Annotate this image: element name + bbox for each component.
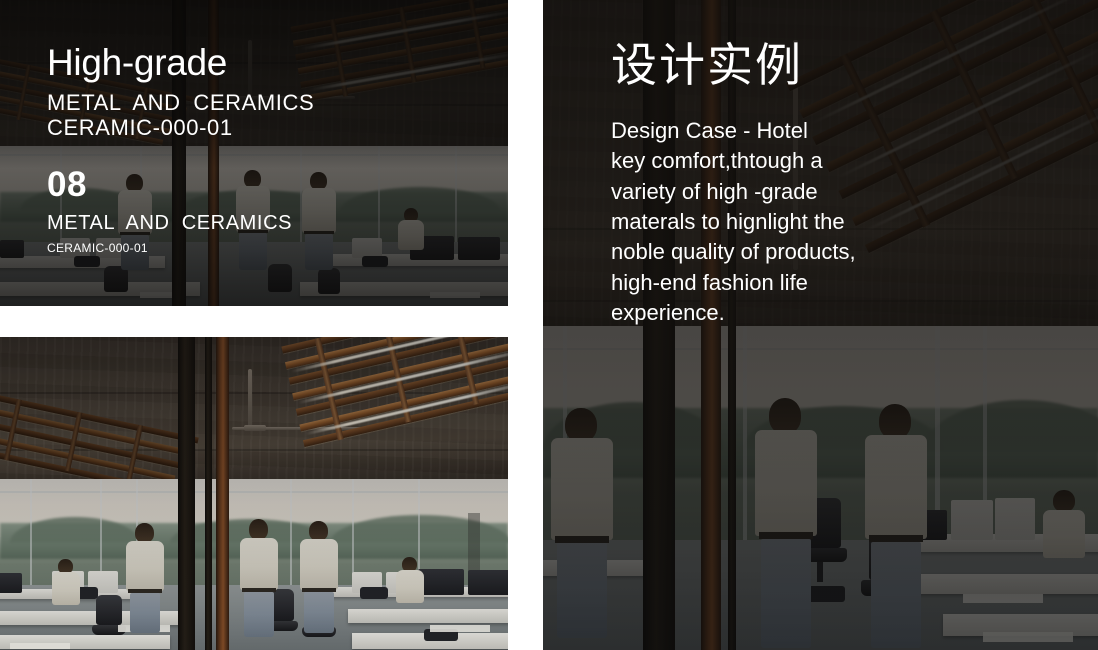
bag <box>74 256 100 267</box>
person-shirt <box>755 430 817 536</box>
ceiling-pipe <box>244 425 266 431</box>
person-shirt <box>300 539 338 590</box>
panel-number-subtitle: METAL AND CERAMICS <box>47 211 292 235</box>
window-mullion <box>290 479 292 591</box>
person-pants <box>130 593 160 633</box>
person-pants <box>305 234 333 270</box>
monitor <box>0 240 24 258</box>
person-head <box>879 404 911 439</box>
wood-column <box>216 337 229 650</box>
person-seated <box>1043 490 1085 560</box>
bag <box>362 256 388 267</box>
panel-heading-cn: 设计实例 <box>611 42 803 88</box>
office-chair <box>96 595 122 625</box>
office-chair <box>318 268 340 294</box>
right-photo-panel: 设计实例 Design Case - Hotel key comfort,tht… <box>543 0 1098 650</box>
person-head <box>565 408 597 442</box>
monitor <box>951 500 993 540</box>
body-line: noble quality of products, <box>611 237 856 267</box>
person-shirt <box>126 541 164 591</box>
person-shirt <box>396 570 424 603</box>
window-mullion <box>743 326 747 546</box>
structural-column <box>205 337 212 650</box>
window-transom <box>0 154 508 156</box>
office-chair <box>268 264 292 292</box>
window-transom <box>0 491 508 493</box>
person-belt <box>555 536 609 543</box>
person-pants <box>244 592 274 637</box>
person-head <box>249 519 268 540</box>
monitor <box>0 573 22 593</box>
person <box>551 408 613 638</box>
paper-stack <box>430 292 480 298</box>
window-transom <box>543 348 1098 350</box>
person-belt <box>869 535 923 542</box>
monitor <box>995 498 1035 540</box>
person <box>755 398 817 648</box>
person-seated <box>398 208 424 252</box>
paper-stack <box>963 594 1043 603</box>
body-line: Design Case - Hotel <box>611 116 856 146</box>
person-shirt <box>865 435 927 539</box>
person <box>865 404 927 648</box>
panel-subtitle-line1: METAL AND CERAMICS <box>47 90 314 116</box>
body-line: experience. <box>611 298 856 328</box>
paper-stack <box>10 643 70 649</box>
person-pants <box>557 543 607 638</box>
body-line: variety of high -grade <box>611 177 856 207</box>
person-shirt <box>398 220 424 250</box>
body-line: materals to hignlight the <box>611 207 856 237</box>
person <box>300 521 338 633</box>
bag <box>360 587 388 599</box>
person-head <box>309 521 328 541</box>
window-mullion <box>378 146 380 250</box>
panel-caption: CERAMIC-000-01 <box>47 241 148 255</box>
person-pants <box>871 542 921 648</box>
desk <box>919 574 1098 594</box>
person-pants <box>239 233 267 270</box>
monitor <box>352 238 382 258</box>
panel-body-text: Design Case - Hotel key comfort,thtough … <box>611 116 856 329</box>
person-seated <box>52 559 80 607</box>
person <box>126 523 164 633</box>
paper-stack <box>983 632 1073 642</box>
body-line: key comfort,thtough a <box>611 146 856 176</box>
panel-number: 08 <box>47 167 87 202</box>
person-pants <box>304 592 334 633</box>
body-line: high-end fashion life <box>611 268 856 298</box>
chair-stem <box>817 562 823 582</box>
person-head <box>1053 490 1075 512</box>
person-shirt <box>1043 510 1085 558</box>
monitor <box>458 237 500 260</box>
window-mullion <box>30 479 32 591</box>
ceiling-pipe <box>248 369 252 429</box>
person-shirt <box>52 572 80 605</box>
structural-column <box>178 337 195 650</box>
top-left-photo-panel: High-grade METAL AND CERAMICS CERAMIC-00… <box>0 0 508 306</box>
person <box>302 172 336 270</box>
person-belt <box>759 532 813 539</box>
person-pants <box>761 539 811 648</box>
person-seated <box>396 557 424 605</box>
office-floor <box>543 540 1098 650</box>
paper-stack <box>430 625 490 632</box>
monitor <box>418 569 464 595</box>
desk <box>348 609 508 623</box>
person-shirt <box>551 438 613 540</box>
panel-subtitle-line2: CERAMIC-000-01 <box>47 115 233 141</box>
panel-title: High-grade <box>47 44 227 81</box>
bottom-left-photo-panel <box>0 337 508 650</box>
person-shirt <box>302 188 336 233</box>
monitor <box>468 570 508 595</box>
window-mullion <box>455 146 457 250</box>
person-head <box>135 523 154 543</box>
slide-canvas: High-grade METAL AND CERAMICS CERAMIC-00… <box>0 0 1098 650</box>
person <box>240 519 278 637</box>
person-shirt <box>240 538 278 590</box>
person-head <box>769 398 801 434</box>
